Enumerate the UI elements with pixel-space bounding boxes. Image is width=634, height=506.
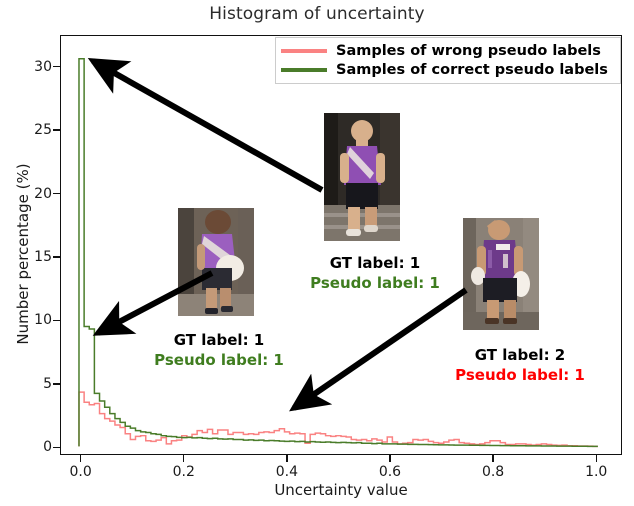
annotation-middle-pseudo-label: Pseudo label: 1 bbox=[282, 273, 468, 293]
sample-image-left bbox=[178, 208, 254, 316]
legend-item-wrong: Samples of wrong pseudo labels bbox=[281, 41, 615, 60]
annotation-right-pseudo-label: Pseudo label: 1 bbox=[422, 365, 618, 385]
y-tick-mark bbox=[53, 447, 60, 448]
annotation-right-gt-label: GT label: 2 bbox=[422, 345, 618, 365]
annotation-left-gt-label: GT label: 1 bbox=[124, 330, 314, 350]
annotation-left-pseudo-label: Pseudo label: 1 bbox=[124, 350, 314, 370]
y-tick-mark bbox=[53, 193, 60, 194]
pedestrian-thumbnail-icon bbox=[178, 208, 254, 316]
x-tick-label: 0.8 bbox=[463, 464, 523, 480]
sample-image-middle bbox=[324, 113, 400, 241]
x-tick-label: 0.2 bbox=[154, 464, 214, 480]
annotation-right: GT label: 2 Pseudo label: 1 bbox=[422, 345, 618, 386]
sample-image-right bbox=[463, 218, 539, 330]
annotation-middle-gt-label: GT label: 1 bbox=[282, 253, 468, 273]
x-tick-label: 0.4 bbox=[257, 464, 317, 480]
page-title: Histogram of uncertainty bbox=[0, 4, 634, 24]
x-tick-label: 0.6 bbox=[360, 464, 420, 480]
x-tick-mark bbox=[492, 455, 493, 462]
x-tick-mark bbox=[596, 455, 597, 462]
chart-legend: Samples of wrong pseudo labels Samples o… bbox=[275, 37, 621, 84]
y-tick-mark bbox=[53, 383, 60, 384]
histogram-figure: Histogram of uncertainty 051015202530 0.… bbox=[0, 0, 634, 506]
x-tick-label: 0.0 bbox=[51, 464, 111, 480]
x-axis-label: Uncertainty value bbox=[60, 481, 622, 499]
legend-swatch-correct-icon bbox=[281, 68, 327, 72]
legend-swatch-wrong-icon bbox=[281, 49, 327, 53]
legend-item-correct: Samples of correct pseudo labels bbox=[281, 60, 615, 79]
y-tick-label: 30 bbox=[18, 59, 52, 75]
y-tick-mark bbox=[53, 256, 60, 257]
x-tick-label: 1.0 bbox=[566, 464, 626, 480]
x-tick-mark bbox=[286, 455, 287, 462]
x-tick-mark bbox=[389, 455, 390, 462]
annotation-middle: GT label: 1 Pseudo label: 1 bbox=[282, 253, 468, 294]
x-tick-mark bbox=[183, 455, 184, 462]
legend-label-wrong: Samples of wrong pseudo labels bbox=[336, 43, 601, 59]
pedestrian-thumbnail-icon bbox=[463, 218, 539, 330]
series-wrong-pseudo-labels bbox=[79, 392, 598, 446]
pedestrian-thumbnail-icon bbox=[324, 113, 400, 241]
y-tick-label: 0 bbox=[18, 439, 52, 455]
y-tick-mark bbox=[53, 320, 60, 321]
x-tick-mark bbox=[80, 455, 81, 462]
y-tick-mark bbox=[53, 66, 60, 67]
annotation-left: GT label: 1 Pseudo label: 1 bbox=[124, 330, 314, 371]
legend-label-correct: Samples of correct pseudo labels bbox=[336, 62, 608, 78]
y-axis-label: Number percentage (%) bbox=[14, 124, 32, 384]
y-tick-mark bbox=[53, 129, 60, 130]
